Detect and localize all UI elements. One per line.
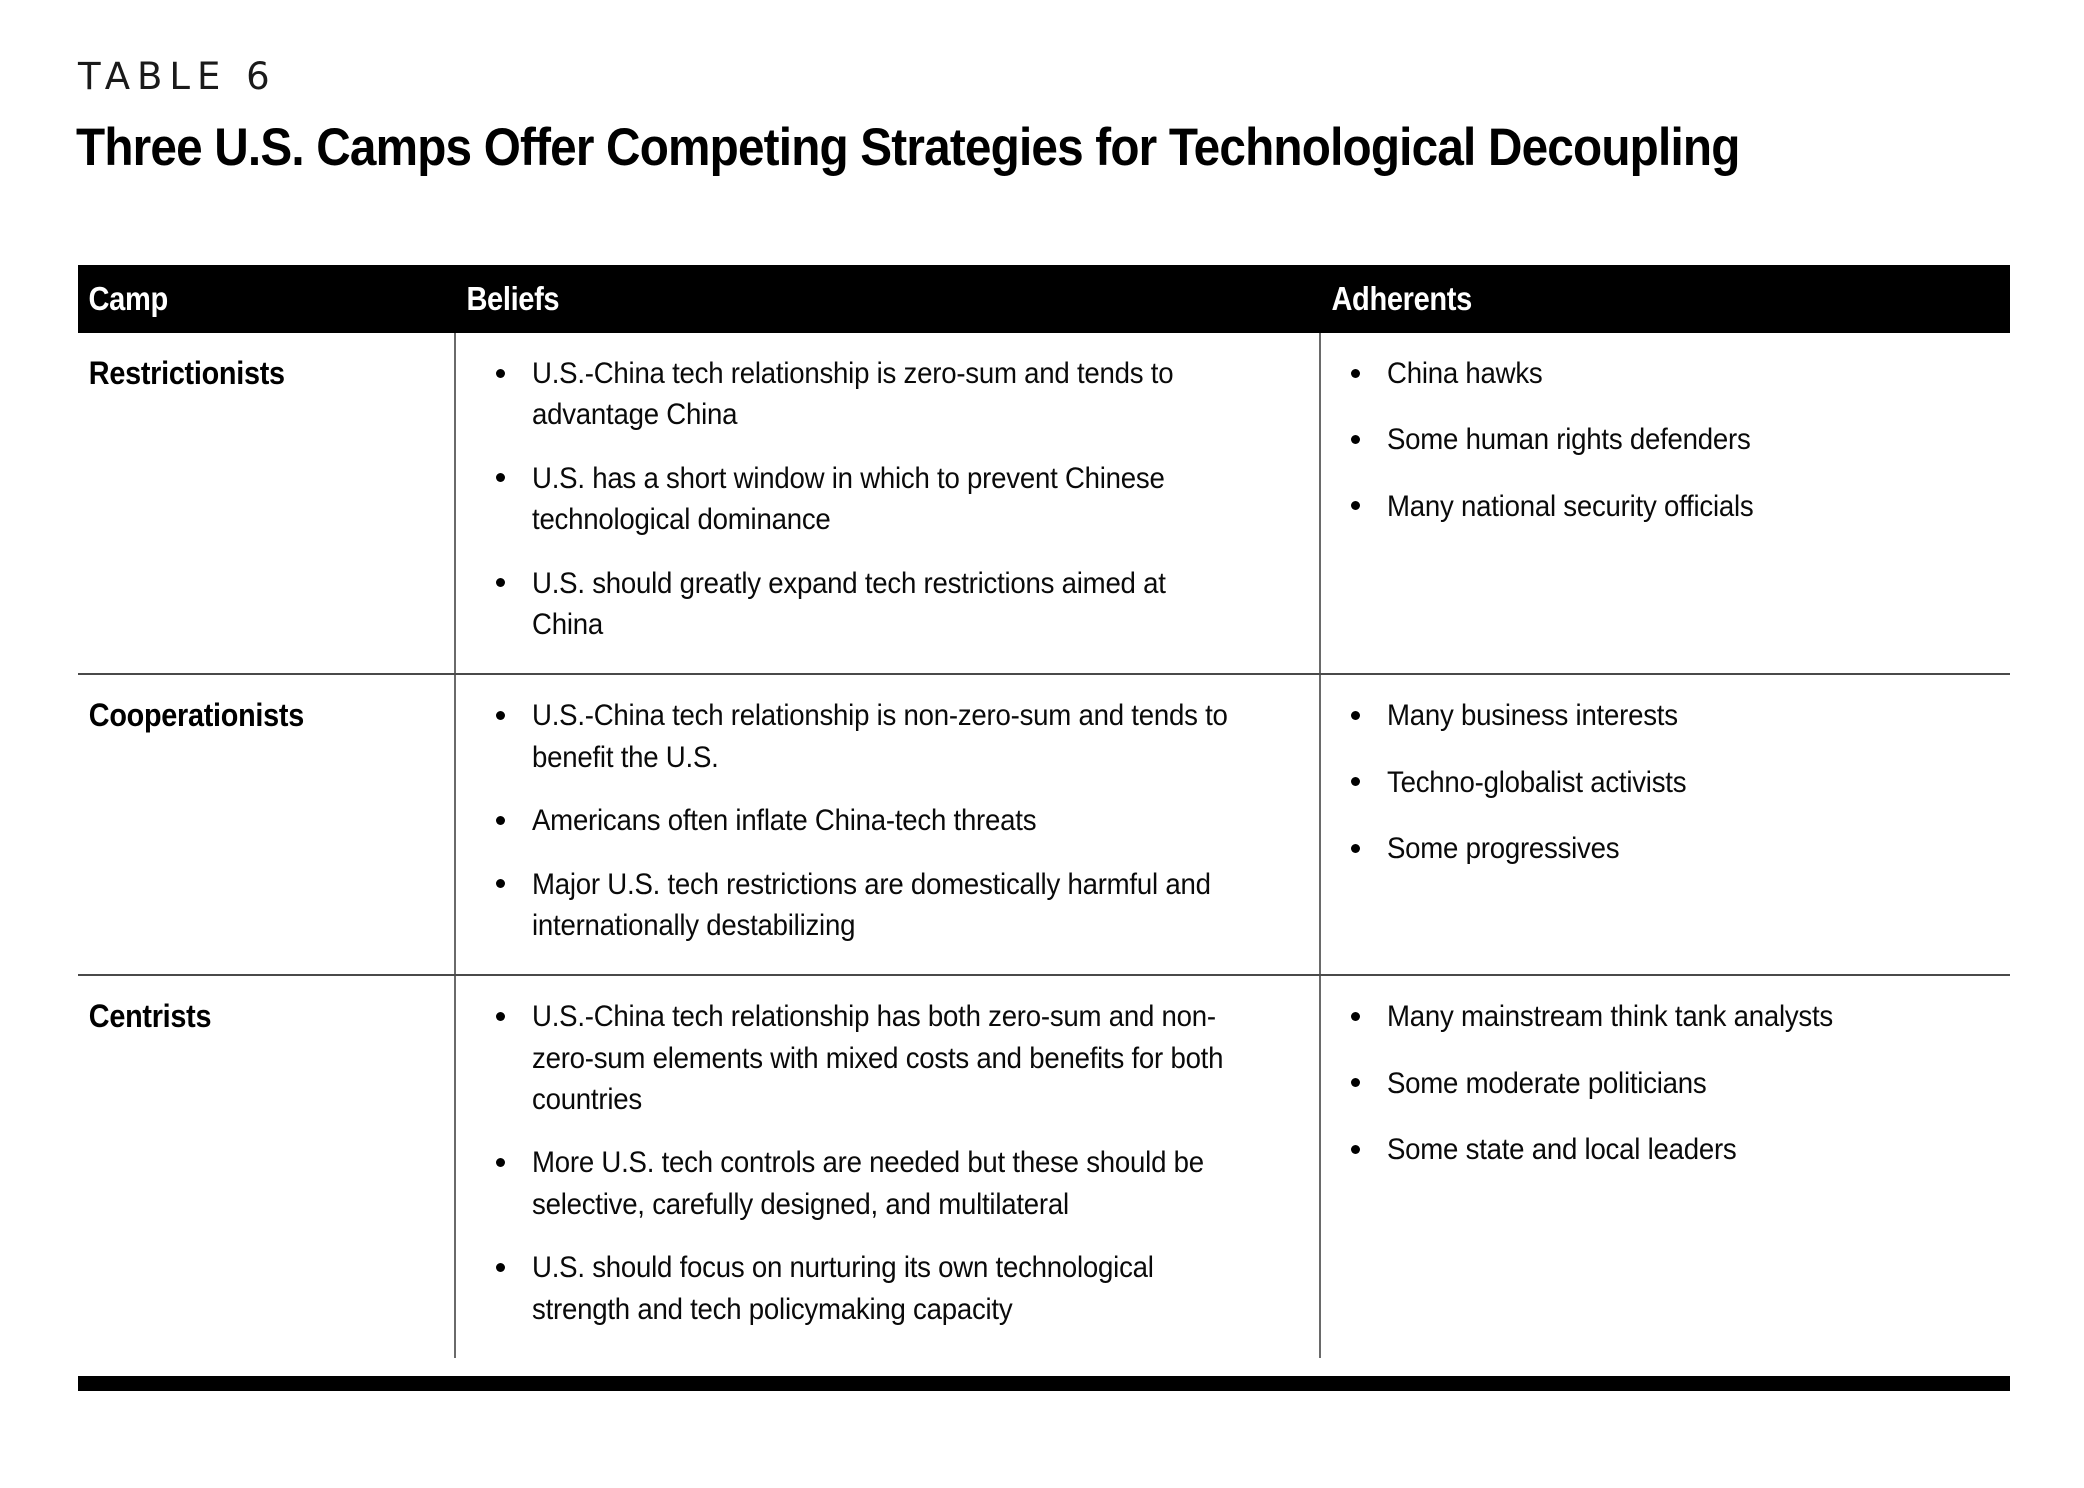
camp-name: Restrictionists <box>78 333 416 422</box>
cell-camp: Centrists <box>78 975 455 1358</box>
bullet-icon <box>496 1012 505 1021</box>
bullet-icon <box>496 1158 505 1167</box>
list-item-text: Many national security officials <box>1387 486 1938 527</box>
bullet-icon <box>1351 501 1360 510</box>
list-item: Some moderate politicians <box>1349 1063 1986 1104</box>
list-item-text: U.S.-China tech relationship is non-zero… <box>532 695 1234 778</box>
adherents-list: China hawks Some human rights defenders … <box>1321 333 2010 580</box>
cell-beliefs: U.S.-China tech relationship is non-zero… <box>455 674 1320 975</box>
page-title: Three U.S. Camps Offer Competing Strateg… <box>76 118 1740 179</box>
cell-camp: Cooperationists <box>78 674 455 975</box>
table-body: Restrictionists U.S.-China tech relation… <box>78 333 2010 1358</box>
bullet-icon <box>496 578 505 587</box>
list-item-text: U.S. should greatly expand tech restrict… <box>532 563 1234 646</box>
bullet-icon <box>496 1263 505 1272</box>
cell-adherents: Many mainstream think tank analysts Some… <box>1320 975 2010 1358</box>
cell-camp: Restrictionists <box>78 333 455 674</box>
bullet-icon <box>1351 1145 1360 1154</box>
list-item-text: Techno-globalist activists <box>1387 762 1938 803</box>
column-header-beliefs-label: Beliefs <box>455 280 1216 318</box>
cell-beliefs: U.S.-China tech relationship is zero-sum… <box>455 333 1320 674</box>
table-row: Cooperationists U.S.-China tech relation… <box>78 674 2010 975</box>
bullet-icon <box>1351 435 1360 444</box>
bullet-icon <box>1351 1012 1360 1021</box>
beliefs-list: U.S.-China tech relationship is zero-sum… <box>456 333 1319 673</box>
table-row: Centrists U.S.-China tech relationship h… <box>78 975 2010 1358</box>
column-header-adherents-label: Adherents <box>1320 280 1927 318</box>
list-item: U.S. should focus on nurturing its own t… <box>494 1247 1295 1330</box>
list-item-text: U.S.-China tech relationship is zero-sum… <box>532 353 1234 436</box>
table-header: Camp Beliefs Adherents <box>78 265 2010 333</box>
cell-adherents: Many business interests Techno-globalist… <box>1320 674 2010 975</box>
bullet-icon <box>496 369 505 378</box>
adherents-list: Many mainstream think tank analysts Some… <box>1321 976 2010 1223</box>
column-header-camp: Camp <box>78 265 455 333</box>
cell-adherents: China hawks Some human rights defenders … <box>1320 333 2010 674</box>
list-item: Some state and local leaders <box>1349 1129 1986 1170</box>
list-item: U.S.-China tech relationship has both ze… <box>494 996 1295 1120</box>
table-page: TABLE 6 Three U.S. Camps Offer Competing… <box>0 0 2084 1488</box>
list-item-text: Major U.S. tech restrictions are domesti… <box>532 864 1234 947</box>
list-item-text: Americans often inflate China-tech threa… <box>532 800 1234 841</box>
camp-name: Centrists <box>78 976 416 1065</box>
comparison-table: Camp Beliefs Adherents Restrictionists <box>78 265 2010 1358</box>
table-row: Restrictionists U.S.-China tech relation… <box>78 333 2010 674</box>
column-header-adherents: Adherents <box>1320 265 2010 333</box>
list-item-text: Some human rights defenders <box>1387 419 1938 460</box>
bullet-icon <box>1351 777 1360 786</box>
list-item: Some progressives <box>1349 828 1986 869</box>
beliefs-list: U.S.-China tech relationship has both ze… <box>456 976 1319 1358</box>
bullet-icon <box>1351 844 1360 853</box>
list-item: Many business interests <box>1349 695 1986 736</box>
adherents-list: Many business interests Techno-globalist… <box>1321 675 2010 922</box>
bullet-icon <box>496 816 505 825</box>
table-header-row: Camp Beliefs Adherents <box>78 265 2010 333</box>
list-item: Many national security officials <box>1349 486 1986 527</box>
list-item: Some human rights defenders <box>1349 419 1986 460</box>
list-item: U.S. should greatly expand tech restrict… <box>494 563 1295 646</box>
cell-beliefs: U.S.-China tech relationship has both ze… <box>455 975 1320 1358</box>
list-item-text: Some moderate politicians <box>1387 1063 1938 1104</box>
bullet-icon <box>1351 711 1360 720</box>
list-item-text: Some progressives <box>1387 828 1938 869</box>
list-item-text: Many business interests <box>1387 695 1938 736</box>
beliefs-list: U.S.-China tech relationship is non-zero… <box>456 675 1319 974</box>
list-item: China hawks <box>1349 353 1986 394</box>
bullet-icon <box>496 711 505 720</box>
list-item: Techno-globalist activists <box>1349 762 1986 803</box>
list-item: U.S.-China tech relationship is non-zero… <box>494 695 1295 778</box>
table-bottom-rule <box>78 1376 2010 1391</box>
list-item: Many mainstream think tank analysts <box>1349 996 1986 1037</box>
list-item: U.S. has a short window in which to prev… <box>494 458 1295 541</box>
camp-name: Cooperationists <box>78 675 416 764</box>
column-header-beliefs: Beliefs <box>455 265 1320 333</box>
list-item-text: U.S. has a short window in which to prev… <box>532 458 1234 541</box>
bullet-icon <box>496 879 505 888</box>
list-item: Major U.S. tech restrictions are domesti… <box>494 864 1295 947</box>
list-item-text: China hawks <box>1387 353 1938 394</box>
list-item: More U.S. tech controls are needed but t… <box>494 1142 1295 1225</box>
table-container: Camp Beliefs Adherents Restrictionists <box>78 265 2010 1358</box>
column-header-camp-label: Camp <box>78 280 410 318</box>
bullet-icon <box>1351 369 1360 378</box>
bullet-icon <box>496 473 505 482</box>
list-item-text: More U.S. tech controls are needed but t… <box>532 1142 1234 1225</box>
list-item-text: Many mainstream think tank analysts <box>1387 996 1938 1037</box>
list-item: U.S.-China tech relationship is zero-sum… <box>494 353 1295 436</box>
list-item-text: U.S. should focus on nurturing its own t… <box>532 1247 1234 1330</box>
list-item-text: U.S.-China tech relationship has both ze… <box>532 996 1234 1120</box>
list-item: Americans often inflate China-tech threa… <box>494 800 1295 841</box>
list-item-text: Some state and local leaders <box>1387 1129 1938 1170</box>
table-number-label: TABLE 6 <box>78 58 277 95</box>
bullet-icon <box>1351 1078 1360 1087</box>
